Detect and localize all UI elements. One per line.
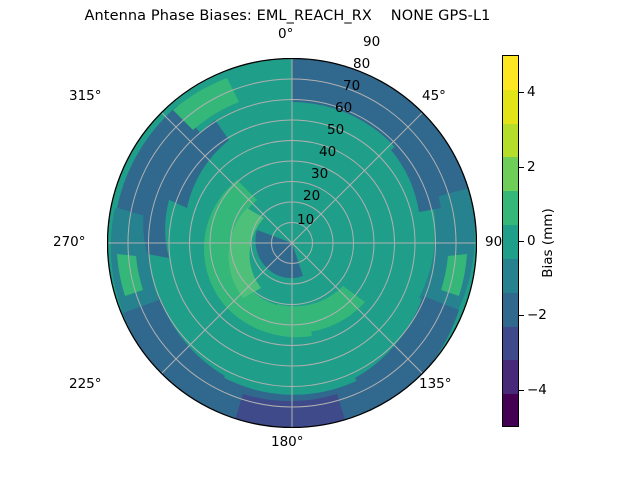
colorbar-tick-label: 4 bbox=[527, 84, 536, 100]
colorbar-band bbox=[503, 90, 518, 124]
angular-tick-315: 315° bbox=[69, 88, 102, 104]
colorbar-band bbox=[503, 360, 518, 394]
colorbar-tick-mark bbox=[519, 167, 524, 168]
radial-tick-40: 40 bbox=[319, 144, 336, 160]
colorbar-tick-mark bbox=[519, 315, 524, 316]
colorbar-band bbox=[503, 259, 518, 293]
colorbar-tick-mark bbox=[519, 241, 524, 242]
radial-tick-20: 20 bbox=[303, 188, 320, 204]
page-title: Antenna Phase Biases: EML_REACH_RX NONE … bbox=[0, 8, 575, 24]
colorbar-band bbox=[503, 157, 518, 191]
colorbar-tick-label: −2 bbox=[527, 307, 547, 323]
colorbar-tick-label: 0 bbox=[527, 233, 536, 249]
angular-tick-180: 180° bbox=[271, 434, 304, 450]
colorbar-tick-mark bbox=[519, 390, 524, 391]
colorbar-band bbox=[503, 327, 518, 361]
polar-axes: 0° 45° 90 135° 180° 225° 270° 315° 10 20… bbox=[107, 58, 477, 428]
colorbar-band bbox=[503, 225, 518, 259]
figure-canvas: Antenna Phase Biases: EML_REACH_RX NONE … bbox=[0, 0, 640, 480]
radial-tick-60: 60 bbox=[335, 100, 352, 116]
colorbar-axis-label: Bias (mm) bbox=[540, 208, 556, 277]
angular-tick-0: 0° bbox=[278, 26, 293, 42]
colorbar-gradient bbox=[502, 55, 519, 427]
angular-tick-225: 225° bbox=[69, 376, 102, 392]
radial-tick-50: 50 bbox=[327, 122, 344, 138]
colorbar: 420−2−4 bbox=[502, 55, 519, 427]
radial-tick-90: 90 bbox=[363, 34, 380, 50]
colorbar-band bbox=[503, 56, 518, 90]
polar-plot-svg bbox=[107, 58, 477, 428]
colorbar-tick-label: −4 bbox=[527, 382, 547, 398]
angular-tick-270: 270° bbox=[53, 234, 86, 250]
colorbar-band bbox=[503, 124, 518, 158]
radial-tick-30: 30 bbox=[311, 166, 328, 182]
colorbar-tick-label: 2 bbox=[527, 159, 536, 175]
colorbar-band bbox=[503, 293, 518, 327]
angular-tick-90: 90 bbox=[485, 234, 502, 250]
colorbar-band bbox=[503, 394, 518, 427]
polar-grid bbox=[107, 58, 477, 428]
radial-tick-80: 80 bbox=[353, 56, 370, 72]
colorbar-tick-mark bbox=[519, 92, 524, 93]
radial-tick-10: 10 bbox=[297, 212, 314, 228]
angular-tick-135: 135° bbox=[419, 376, 452, 392]
angular-tick-45: 45° bbox=[422, 88, 446, 104]
colorbar-band bbox=[503, 191, 518, 225]
radial-tick-70: 70 bbox=[343, 78, 360, 94]
